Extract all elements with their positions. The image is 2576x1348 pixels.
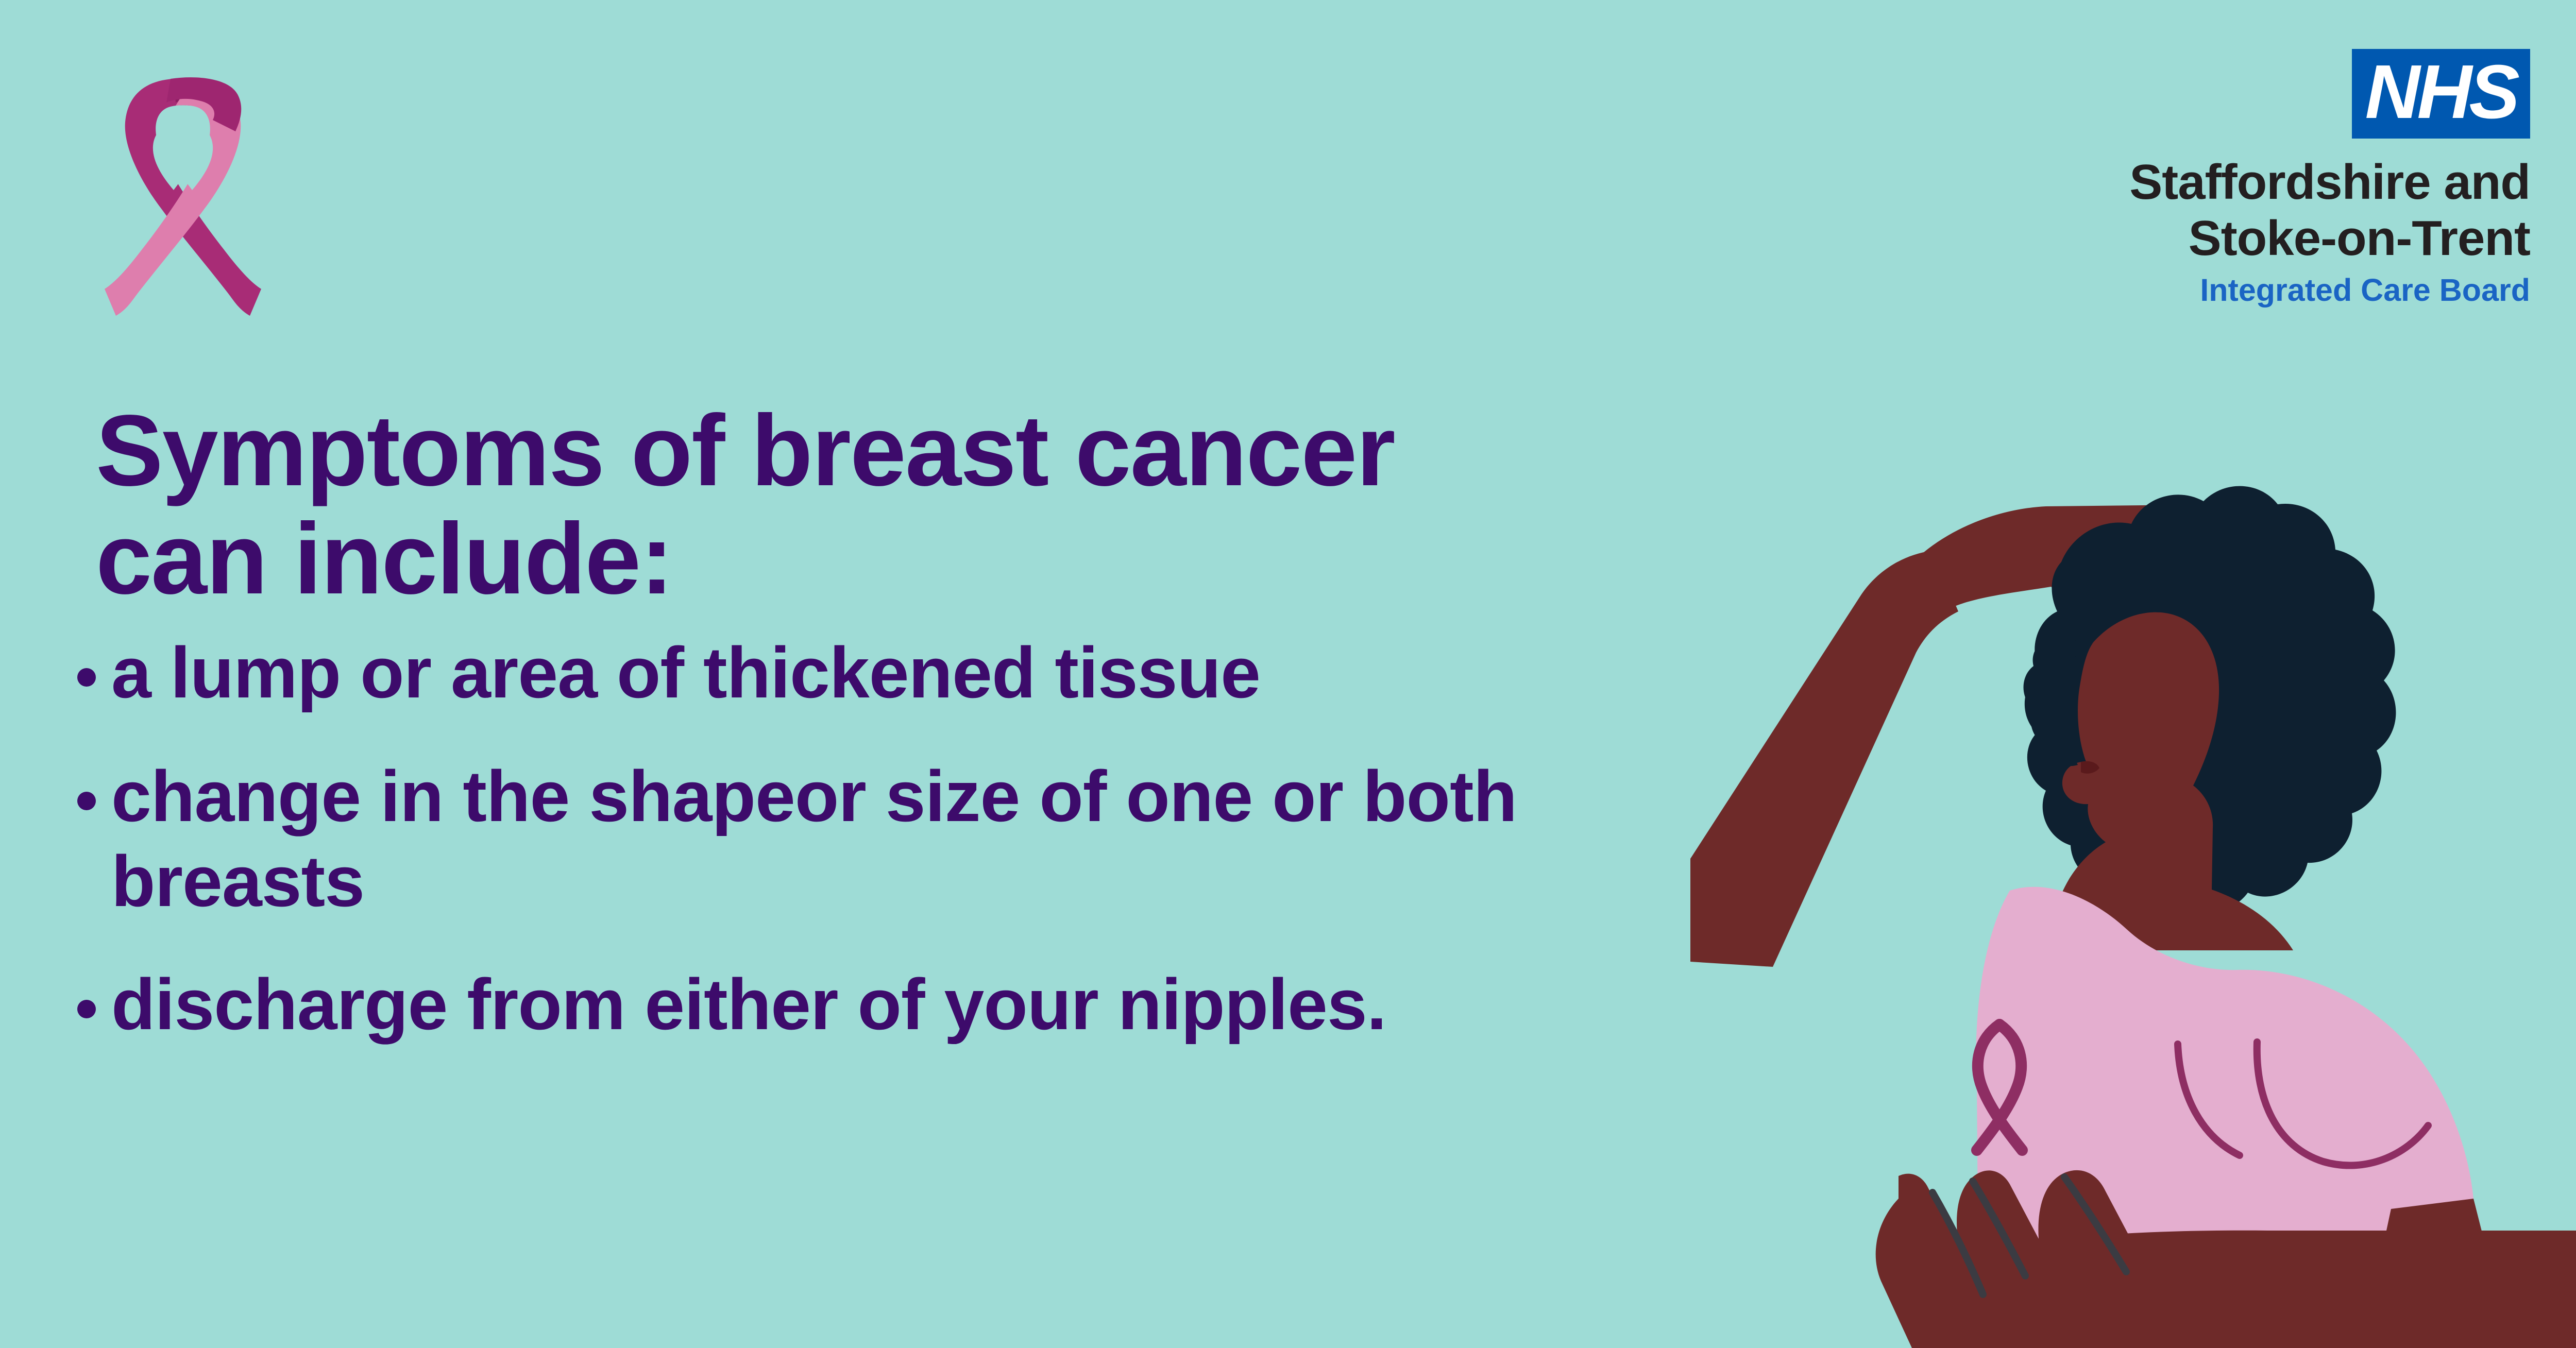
- nhs-org-line-1: Staffordshire and: [2015, 156, 2530, 209]
- symptom-list-item: discharge from either of your nipples.: [77, 962, 1757, 1047]
- nhs-badge-label: NHS: [2365, 54, 2517, 130]
- pink-awareness-ribbon-icon: [80, 54, 286, 343]
- nhs-org-subtitle: Integrated Care Board: [2015, 273, 2530, 308]
- symptom-list-item: a lump or area of thickened tissue: [77, 630, 1757, 715]
- page-title: Symptoms of breast cancer can include:: [96, 397, 1757, 612]
- bullet-dot-icon: [77, 1000, 96, 1018]
- headline-second-line: can include:: [96, 502, 673, 615]
- headline-emphasis: Symptoms: [96, 394, 604, 507]
- nhs-logo-block: NHS Staffordshire and Stoke-on-Trent Int…: [2015, 49, 2530, 308]
- breast-cancer-awareness-poster: NHS Staffordshire and Stoke-on-Trent Int…: [0, 0, 2576, 1348]
- bullet-dot-icon: [77, 668, 96, 687]
- nhs-badge: NHS: [2352, 49, 2530, 139]
- symptom-list-item: change in the shapeor size of one or bot…: [77, 754, 1757, 924]
- message-copy-block: Symptoms of breast cancer can include: a…: [77, 397, 1757, 1085]
- headline-rest: of breast cancer: [604, 394, 1395, 507]
- bullet-dot-icon: [77, 792, 96, 810]
- raised-arm: [1690, 551, 1958, 967]
- symptom-text: discharge from either of your nipples.: [111, 962, 1386, 1047]
- nhs-org-line-2: Stoke-on-Trent: [2015, 212, 2530, 265]
- symptom-text: a lump or area of thickened tissue: [111, 630, 1260, 715]
- symptom-text: change in the shapeor size of one or bot…: [111, 754, 1757, 924]
- woman-checking-breast-illustration: [1690, 354, 2576, 1348]
